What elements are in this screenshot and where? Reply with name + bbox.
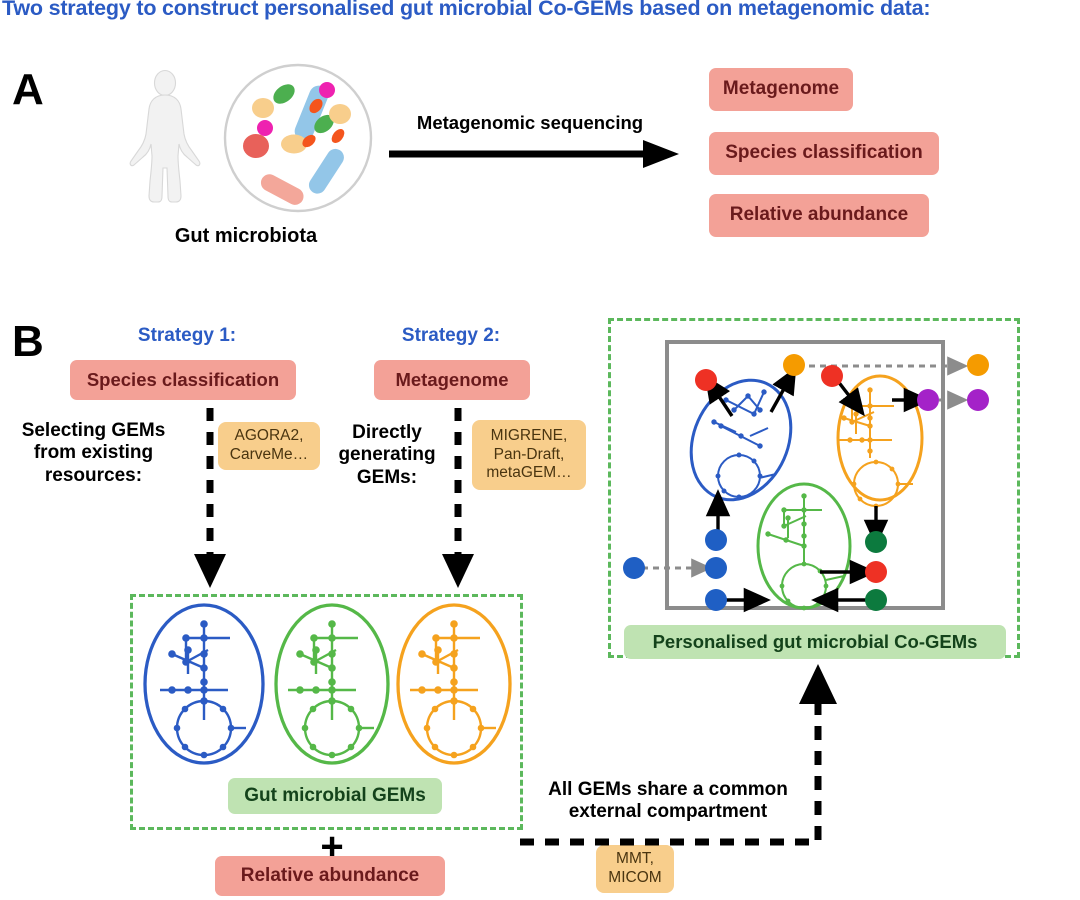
strategy-2-input-box[interactable]: Metagenome xyxy=(374,360,530,400)
gem-cell-orange xyxy=(392,602,516,767)
gut-microbiota-icon xyxy=(222,62,374,214)
sequencing-arrow-label: Metagenomic sequencing xyxy=(385,112,675,134)
strategy-1-down-arrow-icon xyxy=(192,408,228,588)
gem-cell-blue xyxy=(142,602,266,767)
output-pill-species-classification[interactable]: Species classification xyxy=(709,132,939,175)
figure-title: Two strategy to construct personalised g… xyxy=(0,0,1080,21)
merge-dashed-arrow-icon xyxy=(500,650,860,860)
output-pill-metagenome[interactable]: Metagenome xyxy=(709,68,853,111)
human-body-icon xyxy=(125,68,205,208)
strategy-1-heading: Strategy 1: xyxy=(92,325,282,347)
relative-abundance-box[interactable]: Relative abundance xyxy=(215,856,445,896)
sequencing-arrow-icon xyxy=(389,138,679,170)
strategy-2-down-arrow-icon xyxy=(440,408,476,588)
strategy-2-tools-tag[interactable]: MIGRENE, Pan-Draft, metaGEM… xyxy=(472,420,586,490)
panel-letter-b: B xyxy=(12,320,44,364)
co-gems-network-diagram xyxy=(608,318,1020,658)
strategy-1-description: Selecting GEMs from existing resources: xyxy=(6,420,181,487)
strategy-1-tools-tag[interactable]: AGORA2, CarveMe… xyxy=(218,422,320,470)
strategy-1-input-box[interactable]: Species classification xyxy=(70,360,296,400)
gut-microbiota-label: Gut microbiota xyxy=(166,225,326,249)
panel-letter-a: A xyxy=(12,68,44,112)
strategy-2-heading: Strategy 2: xyxy=(356,325,546,347)
gut-microbial-gems-label[interactable]: Gut microbial GEMs xyxy=(228,778,442,814)
strategy-2-description: Directly generating GEMs: xyxy=(324,422,450,489)
gem-cell-green xyxy=(270,602,394,767)
output-pill-relative-abundance[interactable]: Relative abundance xyxy=(709,194,929,237)
co-gems-label[interactable]: Personalised gut microbial Co-GEMs xyxy=(624,625,1006,659)
